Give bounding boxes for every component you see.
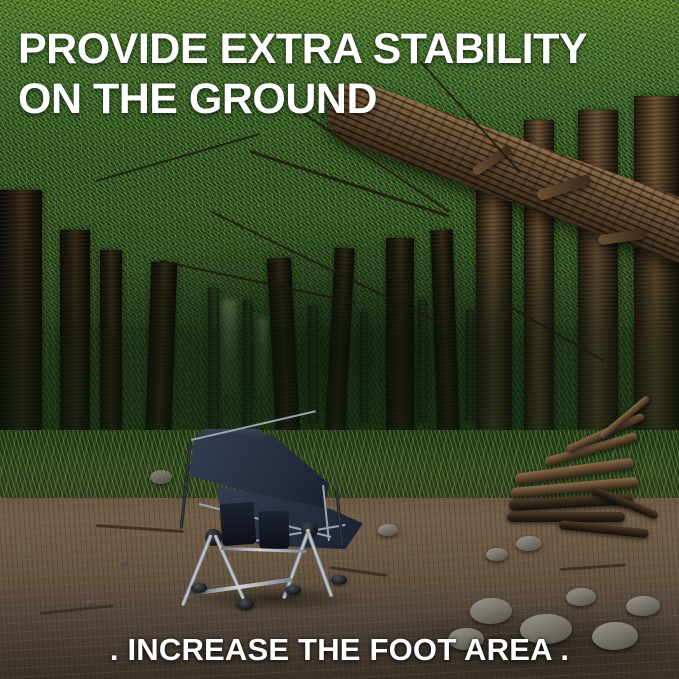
rock — [516, 536, 542, 551]
pebble — [120, 560, 128, 566]
rock — [626, 596, 660, 616]
headline-text: PROVIDE EXTRA STABILITY ON THE GROUND — [18, 24, 638, 124]
rock — [150, 470, 172, 484]
chair-wide-foot — [285, 585, 301, 595]
chair-wide-foot — [331, 575, 347, 585]
pebble — [86, 600, 95, 606]
chair-crossbar — [221, 547, 307, 553]
chair-side-pocket[interactable] — [258, 510, 289, 549]
chair-back-pole — [180, 441, 192, 529]
pebble — [410, 586, 418, 592]
folding-camping-chair[interactable] — [175, 425, 370, 615]
rock — [486, 548, 508, 561]
chair-side-pocket[interactable] — [220, 502, 257, 546]
rock — [566, 588, 596, 606]
rock — [378, 524, 398, 536]
log — [559, 520, 649, 538]
forest-depth-shading — [0, 204, 679, 448]
rock — [470, 598, 512, 624]
firewood-log-pile — [505, 430, 665, 550]
chair-wide-foot — [191, 583, 207, 593]
caption-text: . INCREASE THE FOOT AREA . — [0, 632, 679, 668]
chair-wide-foot — [237, 599, 254, 610]
product-photo-scene: PROVIDE EXTRA STABILITY ON THE GROUND . … — [0, 0, 679, 679]
